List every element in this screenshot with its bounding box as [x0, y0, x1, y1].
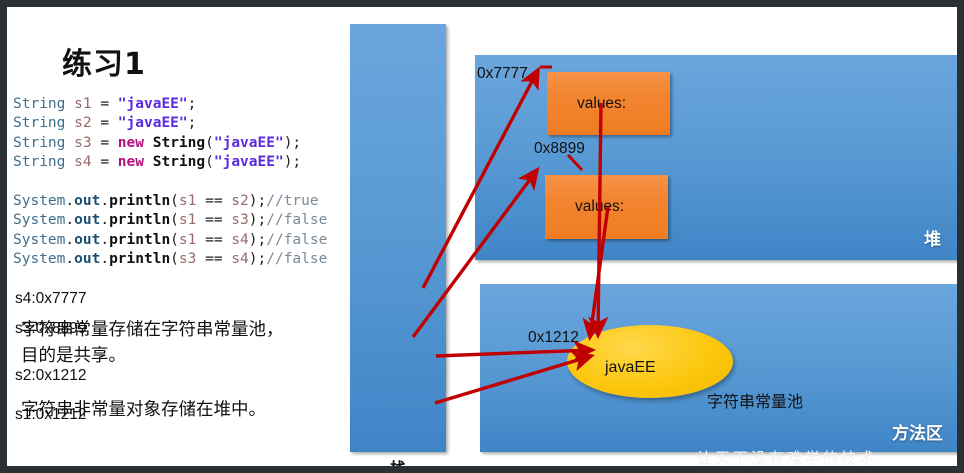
- code-token: );: [249, 232, 266, 248]
- stack-slot: s1:0x1212: [15, 406, 87, 424]
- java-code-block: String s1 = "javaEE";String s2 = "javaEE…: [13, 95, 327, 270]
- code-token: String: [13, 96, 65, 112]
- code-token: [65, 135, 74, 151]
- code-token: (: [170, 193, 179, 209]
- heap-object-1-label: values:: [577, 95, 626, 113]
- code-token: s3: [231, 212, 248, 228]
- code-token: .: [100, 212, 109, 228]
- code-line: String s2 = "javaEE";: [13, 114, 327, 133]
- code-token: println: [109, 251, 170, 267]
- method-area-label: 方法区: [892, 419, 943, 444]
- code-token: new: [118, 135, 144, 151]
- code-token: [65, 154, 74, 170]
- code-token: "javaEE": [118, 115, 188, 131]
- code-token: s4: [74, 154, 91, 170]
- code-token: String: [13, 154, 65, 170]
- code-token: s3: [74, 135, 91, 151]
- code-token: (: [170, 212, 179, 228]
- code-token: .: [65, 193, 74, 209]
- code-token: String: [153, 135, 205, 151]
- code-token: s1: [74, 96, 91, 112]
- code-token: ==: [196, 193, 231, 209]
- pool-address: 0x1212: [528, 329, 579, 347]
- code-token: out: [74, 251, 100, 267]
- stack-slot: s3:0x8899: [15, 320, 87, 338]
- heap-object-2-label: values:: [575, 198, 624, 216]
- code-token: //false: [266, 212, 327, 228]
- code-line: String s1 = "javaEE";: [13, 95, 327, 114]
- code-token: ==: [196, 212, 231, 228]
- code-token: s2: [231, 193, 248, 209]
- code-token: "javaEE": [214, 135, 284, 151]
- heap-object-1: values:: [547, 72, 670, 135]
- code-line: System.out.println(s1 == s3);//false: [13, 211, 327, 230]
- code-token: );: [284, 135, 301, 151]
- code-line: System.out.println(s3 == s4);//false: [13, 250, 327, 269]
- code-token: s2: [74, 115, 91, 131]
- slide-canvas: 练习1 String s1 = "javaEE";String s2 = "ja…: [7, 7, 957, 466]
- code-token: .: [65, 251, 74, 267]
- code-token: [65, 115, 74, 131]
- code-token: //false: [266, 251, 327, 267]
- pool-caption: 字符串常量池: [707, 388, 803, 412]
- code-line: System.out.println(s1 == s2);//true: [13, 192, 327, 211]
- code-token: [144, 154, 153, 170]
- code-token: =: [92, 135, 118, 151]
- code-token: out: [74, 193, 100, 209]
- code-token: );: [249, 193, 266, 209]
- code-token: .: [100, 232, 109, 248]
- code-token: println: [109, 232, 170, 248]
- heap-object-1-address: 0x7777: [477, 65, 528, 83]
- stack-caption: 栈: [350, 455, 446, 466]
- code-token: new: [118, 154, 144, 170]
- code-token: =: [92, 115, 118, 131]
- code-line: String s3 = new String("javaEE");: [13, 134, 327, 153]
- code-token: //false: [266, 232, 327, 248]
- code-token: String: [13, 115, 65, 131]
- code-line: String s4 = new String("javaEE");: [13, 153, 327, 172]
- code-token: System: [13, 232, 65, 248]
- code-token: s4: [231, 232, 248, 248]
- code-token: System: [13, 212, 65, 228]
- code-token: );: [284, 154, 301, 170]
- heap-label: 堆: [924, 225, 941, 250]
- pool-value-label: javaEE: [605, 359, 656, 377]
- code-token: .: [65, 232, 74, 248]
- code-token: [65, 96, 74, 112]
- code-token: System: [13, 251, 65, 267]
- code-token: (: [170, 251, 179, 267]
- code-token: println: [109, 212, 170, 228]
- image-frame: 练习1 String s1 = "javaEE";String s2 = "ja…: [0, 0, 964, 473]
- stack-slot: s4:0x7777: [15, 290, 87, 308]
- heap-object-2-address: 0x8899: [534, 140, 585, 158]
- code-token: .: [100, 251, 109, 267]
- code-token: (: [205, 154, 214, 170]
- code-token: ;: [188, 115, 197, 131]
- code-token: ==: [196, 251, 231, 267]
- code-line: [13, 173, 327, 192]
- code-token: =: [92, 96, 118, 112]
- code-token: //true: [266, 193, 318, 209]
- code-token: ;: [188, 96, 197, 112]
- code-token: "javaEE": [118, 96, 188, 112]
- code-token: String: [13, 135, 65, 151]
- code-line: System.out.println(s1 == s4);//false: [13, 231, 327, 250]
- code-token: out: [74, 232, 100, 248]
- page-title: 练习1: [62, 39, 146, 83]
- code-token: s1: [179, 193, 196, 209]
- code-token: String: [153, 154, 205, 170]
- stack-panel: [350, 24, 446, 452]
- code-token: println: [109, 193, 170, 209]
- code-token: s3: [179, 251, 196, 267]
- code-token: out: [74, 212, 100, 228]
- code-token: [144, 135, 153, 151]
- code-token: s1: [179, 212, 196, 228]
- code-token: (: [205, 135, 214, 151]
- code-token: s1: [179, 232, 196, 248]
- heap-object-2: values:: [545, 175, 668, 239]
- code-token: =: [92, 154, 118, 170]
- code-token: System: [13, 193, 65, 209]
- code-token: (: [170, 232, 179, 248]
- code-token: ==: [196, 232, 231, 248]
- code-token: );: [249, 251, 266, 267]
- code-token: .: [100, 193, 109, 209]
- watermark: 让天下没有难学的技术: [697, 447, 877, 466]
- code-token: );: [249, 212, 266, 228]
- code-token: "javaEE": [214, 154, 284, 170]
- stack-slot: s2:0x1212: [15, 367, 87, 385]
- code-token: .: [65, 212, 74, 228]
- code-token: s4: [231, 251, 248, 267]
